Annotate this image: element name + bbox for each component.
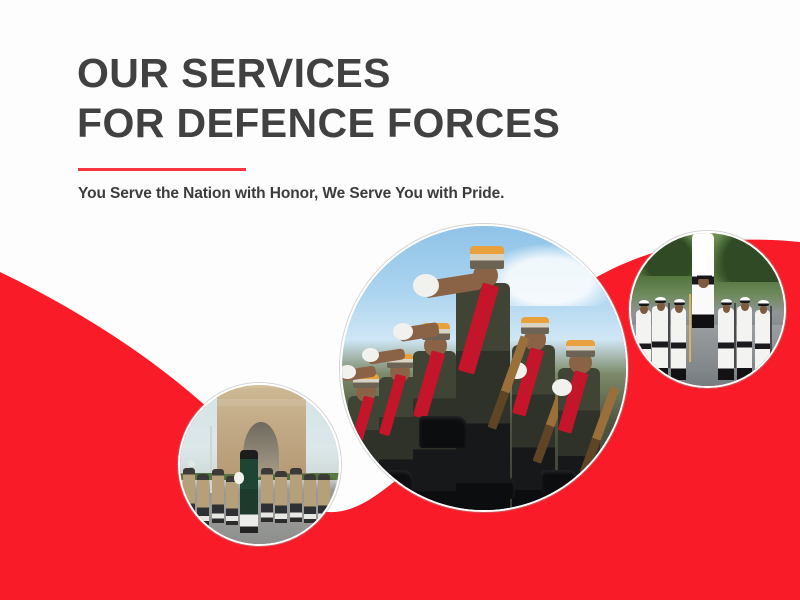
peaked-cap [697, 270, 712, 279]
cadet-figure [197, 474, 209, 525]
cadet-figure [275, 471, 287, 523]
india-gate-scene [180, 385, 339, 544]
palm-tree [708, 231, 787, 282]
navy-parade-scene [631, 233, 784, 386]
peaked-cap [740, 297, 751, 303]
sailor-figure [652, 306, 667, 379]
cadet-figure [304, 474, 316, 523]
sailor-figure [737, 306, 752, 379]
turban [566, 340, 594, 357]
sailor-head [657, 302, 665, 311]
boot [541, 470, 578, 493]
white-glove [413, 274, 439, 297]
sailor-figure [718, 308, 733, 380]
tagline: You Serve the Nation with Honor, We Serv… [78, 185, 717, 203]
sailor-head [640, 305, 648, 314]
defence-services-banner: OUR SERVICES FOR DEFENCE FORCES You Serv… [0, 0, 800, 600]
turban [521, 317, 549, 334]
sailor-head [741, 302, 749, 311]
sailor-figure [671, 308, 686, 380]
page-title-line-1: OUR SERVICES [77, 48, 717, 98]
army-parade-scene [342, 226, 626, 510]
peaked-cap [655, 297, 666, 303]
cadet-figure [212, 469, 224, 523]
raised-boot [419, 416, 467, 447]
white-glove [393, 323, 413, 340]
rifle [734, 303, 736, 367]
white-glove [234, 472, 244, 483]
photo-circle-army-parade [340, 224, 628, 512]
page-title-line-2: FOR DEFENCE FORCES [77, 98, 717, 148]
boot [376, 470, 413, 493]
cadet-figure [261, 468, 273, 522]
ceremonial-sword [689, 294, 691, 361]
cadet-figure [318, 474, 330, 522]
peaked-cap [758, 300, 769, 306]
peaked-cap [721, 299, 732, 305]
sailor-figure [636, 310, 651, 380]
heading-block: OUR SERVICES FOR DEFENCE FORCES You Serv… [77, 48, 717, 203]
cadet-figure [290, 468, 302, 522]
leading-officer-figure [240, 450, 257, 533]
rifle [668, 303, 670, 367]
photo-circle-india-gate-parade [178, 383, 341, 546]
sailor-head [760, 305, 768, 314]
sailor-figure [755, 310, 770, 380]
peaked-cap [674, 299, 685, 305]
photo-circle-navy-parade [629, 231, 786, 388]
peaked-cap [639, 300, 650, 306]
turban [470, 246, 504, 269]
title-divider [78, 168, 246, 171]
cadet-figure [183, 468, 195, 522]
rifle [770, 306, 772, 367]
